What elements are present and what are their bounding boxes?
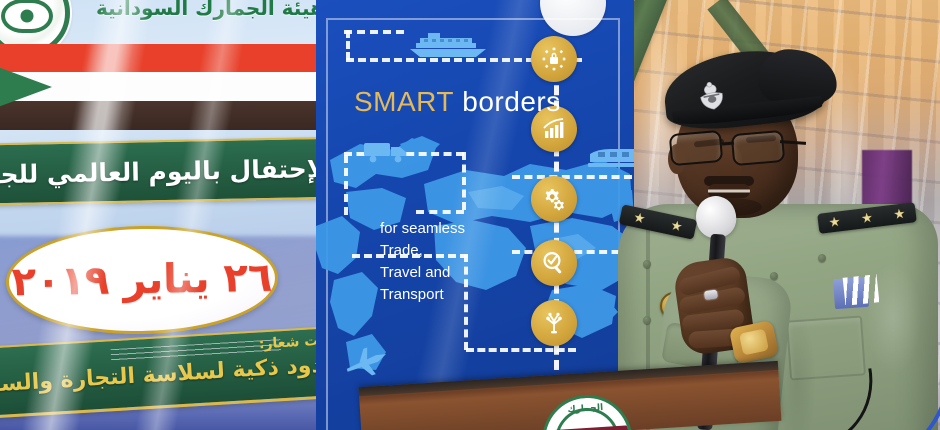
banner-date-text: ٢٦ يناير ٢٠١٩ [11,255,272,306]
rank-star-icon [633,212,646,225]
finger-ring [704,289,718,300]
rank-star-icon [670,219,683,232]
route-dash-6 [462,152,466,210]
smart-borders-poster: SMART borders for seamless Trade, Travel… [316,0,634,430]
left-event-banner: الجمارك هيئة الجمارك السودانية الإحتفال … [0,0,330,430]
sudan-flag [0,44,326,130]
magnifier-check-icon [531,240,577,286]
officer-beret [661,44,828,134]
brand-smart-text: SMART [354,86,454,117]
route-dash-2 [346,30,350,60]
tagline-line-4: Transport [380,284,465,306]
uniform-button [643,260,651,268]
podium-customs-emblem: الجمارك [540,392,635,430]
route-dash-7 [416,210,464,214]
tagline-line-2: Trade, [380,240,465,262]
tagline-line-1: for seamless [380,218,465,240]
cargo-ship-icon [406,32,492,60]
rank-star-icon [893,208,905,220]
poster-brand-title: SMART borders [354,86,561,118]
technology-tree-icon [531,300,577,346]
security-lock-circle-icon [531,36,577,82]
eyeglass-temple [780,140,806,144]
airplane-icon [344,346,392,380]
logo-eye-shape [1,0,53,33]
gears-cogs-icon [531,176,577,222]
truck-icon [364,140,410,164]
flag-gloss [0,44,326,130]
banner-title-text: الإحتفال باليوم العالمي للجمارك [0,153,330,190]
poster-tagline: for seamless Trade, Travel and Transport [380,218,465,306]
uniform-button [818,254,826,262]
rank-star-icon [828,216,840,228]
eyeglasses [670,132,802,166]
brand-borders-text: borders [462,86,560,117]
rank-star-icon [861,212,873,224]
route-dash-4 [344,155,348,215]
tagline-line-3: Travel and [380,262,465,284]
eyeglass-lens-right [731,130,786,166]
banner-title-band: الإحتفال باليوم العالمي للجمارك [0,137,330,206]
route-dash-3 [344,30,404,34]
uniform-button [643,316,651,324]
eyeglass-lens-left [669,130,724,166]
screenshot-root: الجمارك هيئة الجمارك السودانية الإحتفال … [0,0,940,430]
route-dash-10 [466,348,576,352]
beret-cap-badge-icon [692,78,731,114]
banner-organization-name: هيئة الجمارك السودانية [74,0,324,20]
logo-pupil [21,10,34,23]
